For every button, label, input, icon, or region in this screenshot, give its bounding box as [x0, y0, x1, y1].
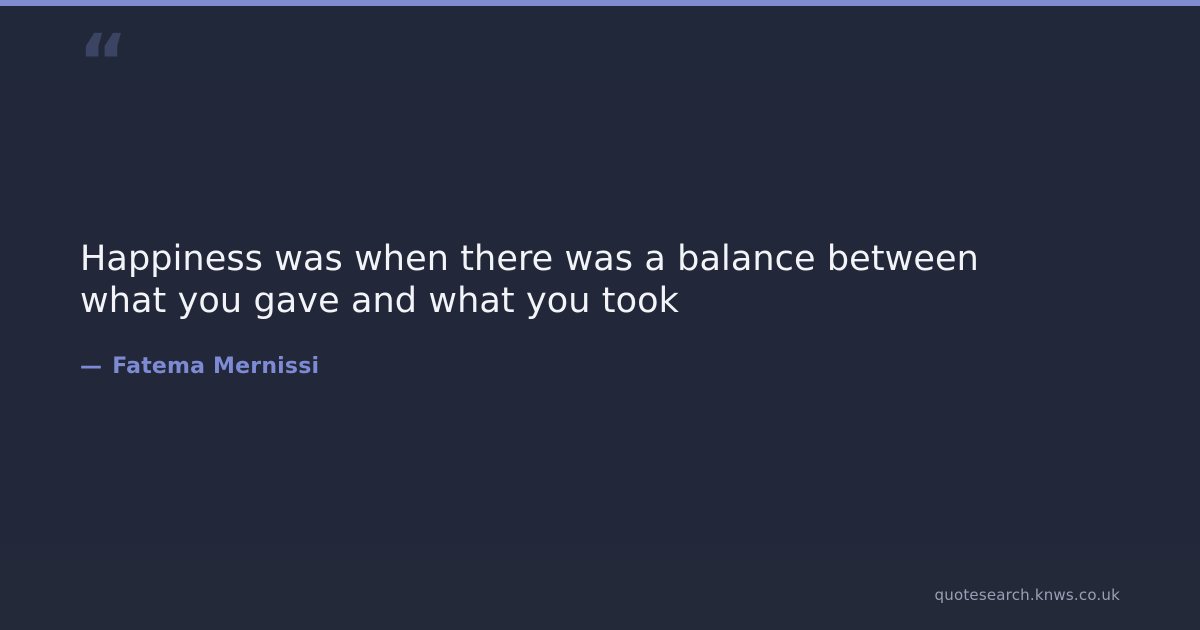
- quotation-mark-icon: “: [78, 24, 126, 100]
- top-accent-bar: [0, 0, 1200, 6]
- quote-card: “ Happiness was when there was a balance…: [0, 0, 1200, 630]
- quote-attribution: — Fatema Mernissi: [80, 322, 1080, 379]
- site-watermark: quotesearch.knws.co.uk: [935, 586, 1120, 604]
- quote-text: Happiness was when there was a balance b…: [80, 238, 1060, 322]
- em-dash: —: [80, 354, 102, 379]
- quote-content: Happiness was when there was a balance b…: [80, 238, 1080, 379]
- author-name: Fatema Mernissi: [112, 354, 319, 379]
